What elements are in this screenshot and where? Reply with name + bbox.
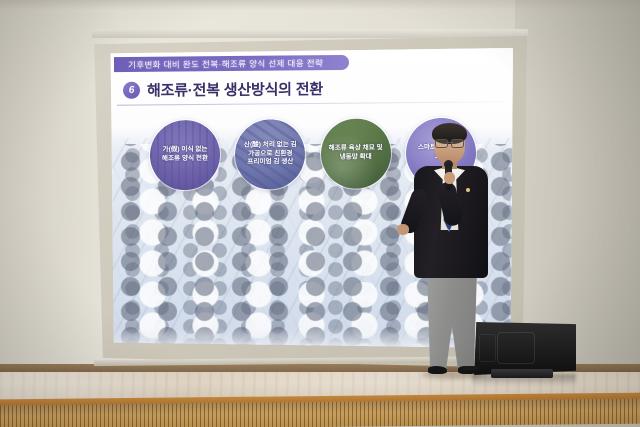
- slide-circle-1: 가(假) 이식 없는 해조류 양식 전환: [149, 119, 221, 192]
- slide-banner: 기후변화 대비 완도 전복·해조류 양식 선제 대응 전략: [114, 55, 349, 72]
- shoe-left: [428, 366, 447, 374]
- floor-monitor-side-panel: [479, 334, 496, 362]
- lapel-pin-icon: [466, 188, 470, 192]
- slide-circle-2: 산(酸) 처리 없는 김 가공으로 친환경 프리미엄 김 생산: [234, 118, 306, 191]
- slide-circle-3: 해조류 육상 채묘 및 냉동망 확대: [320, 117, 392, 190]
- slide-title: 해조류·전복 생산방식의 전환: [147, 78, 323, 101]
- glasses-icon: [435, 139, 464, 147]
- circle-2-label: 산(酸) 처리 없는 김 가공으로 친환경 프리미엄 김 생산: [241, 141, 299, 168]
- presenter-hand-right: [444, 172, 455, 184]
- glasses-lens-left: [435, 139, 448, 148]
- slide-banner-text: 기후변화 대비 완도 전복·해조류 양식 선제 대응 전략: [128, 57, 323, 71]
- floor-monitor-speaker: [471, 322, 576, 375]
- floor-monitor-front-panel: [497, 332, 535, 364]
- circle-3-label: 해조류 육상 채묘 및 냉동망 확대: [327, 144, 385, 162]
- floor-monitor-base: [491, 369, 553, 378]
- circle-1-label: 가(假) 이식 없는 해조류 양식 전환: [156, 146, 214, 164]
- wall-shadow-right: [515, 0, 640, 372]
- slide-number-badge: 6: [123, 82, 140, 99]
- floor-monitor-cable: [462, 366, 478, 370]
- presenter-hand-left: [397, 224, 409, 235]
- slide-title-row: 6 해조류·전복 생산방식의 전환: [123, 78, 323, 101]
- glasses-lens-right: [451, 139, 464, 148]
- presentation-photo: 기후변화 대비 완도 전복·해조류 양식 선제 대응 전략 6 해조류·전복 생…: [0, 0, 640, 427]
